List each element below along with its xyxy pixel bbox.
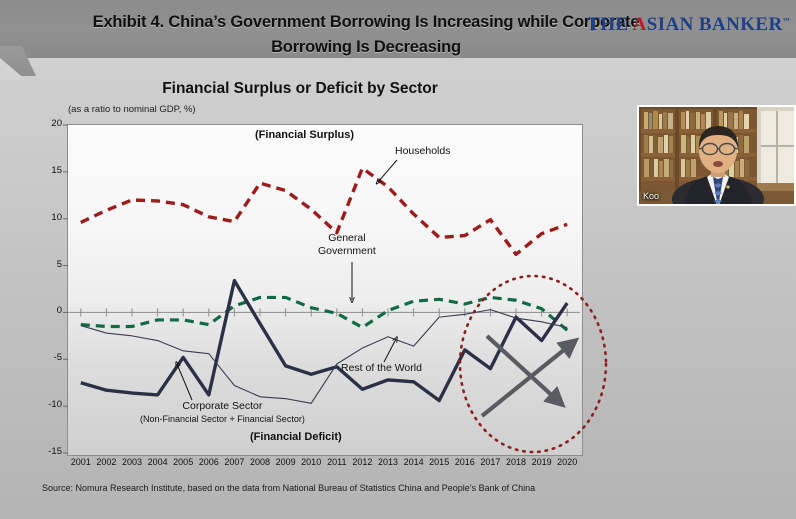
y-axis-tick-label: 20 xyxy=(36,118,62,129)
video-participant-name: Koo xyxy=(643,191,659,201)
households-leader-line xyxy=(378,160,397,182)
axis-tick-layer xyxy=(63,125,567,453)
series-layer xyxy=(81,168,567,403)
source-note: Source: Nomura Research Institute, based… xyxy=(42,483,535,493)
y-axis-tick-label: -5 xyxy=(36,352,62,363)
slide-background: Exhibit 4. China’s Government Borrowing … xyxy=(0,0,796,519)
y-axis-tick-label: 15 xyxy=(36,165,62,176)
annotation-corporate-sector-line2: (Non-Financial Sector + Financial Sector… xyxy=(140,414,305,424)
annotation-general-government: General Government xyxy=(318,232,376,258)
annotation-financial-surplus: (Financial Surplus) xyxy=(255,129,354,141)
chart-canvas xyxy=(0,0,796,519)
annotation-financial-deficit: (Financial Deficit) xyxy=(250,431,342,443)
y-axis-tick-label: 10 xyxy=(36,212,62,223)
rest-of-world-leader-line xyxy=(384,339,396,362)
annotation-corporate-sector-line1: Corporate Sector xyxy=(182,400,262,412)
y-axis-tick-label: 5 xyxy=(36,259,62,270)
x-axis-tick-label: 2020 xyxy=(552,457,582,467)
trend-arrow-down xyxy=(487,336,557,400)
annotation-corporate-sector: Corporate Sector (Non-Financial Sector +… xyxy=(140,400,305,426)
video-feed-image xyxy=(639,107,796,206)
chart-plot-area: 20151050-5-10-15 20012002200320042005200… xyxy=(0,0,796,519)
annotation-general-government-line2: Government xyxy=(318,245,376,257)
annotation-general-government-line1: General xyxy=(328,232,365,244)
video-participant-tile[interactable]: Koo xyxy=(637,105,796,206)
annotation-households: Households xyxy=(395,145,450,157)
series-line xyxy=(81,310,567,404)
y-axis-tick-label: -10 xyxy=(36,399,62,410)
y-axis-tick-label: 0 xyxy=(36,305,62,316)
annotation-rest-of-the-world: Rest of the World xyxy=(341,362,422,374)
series-line xyxy=(81,297,567,330)
y-axis-tick-label: -15 xyxy=(36,446,62,457)
